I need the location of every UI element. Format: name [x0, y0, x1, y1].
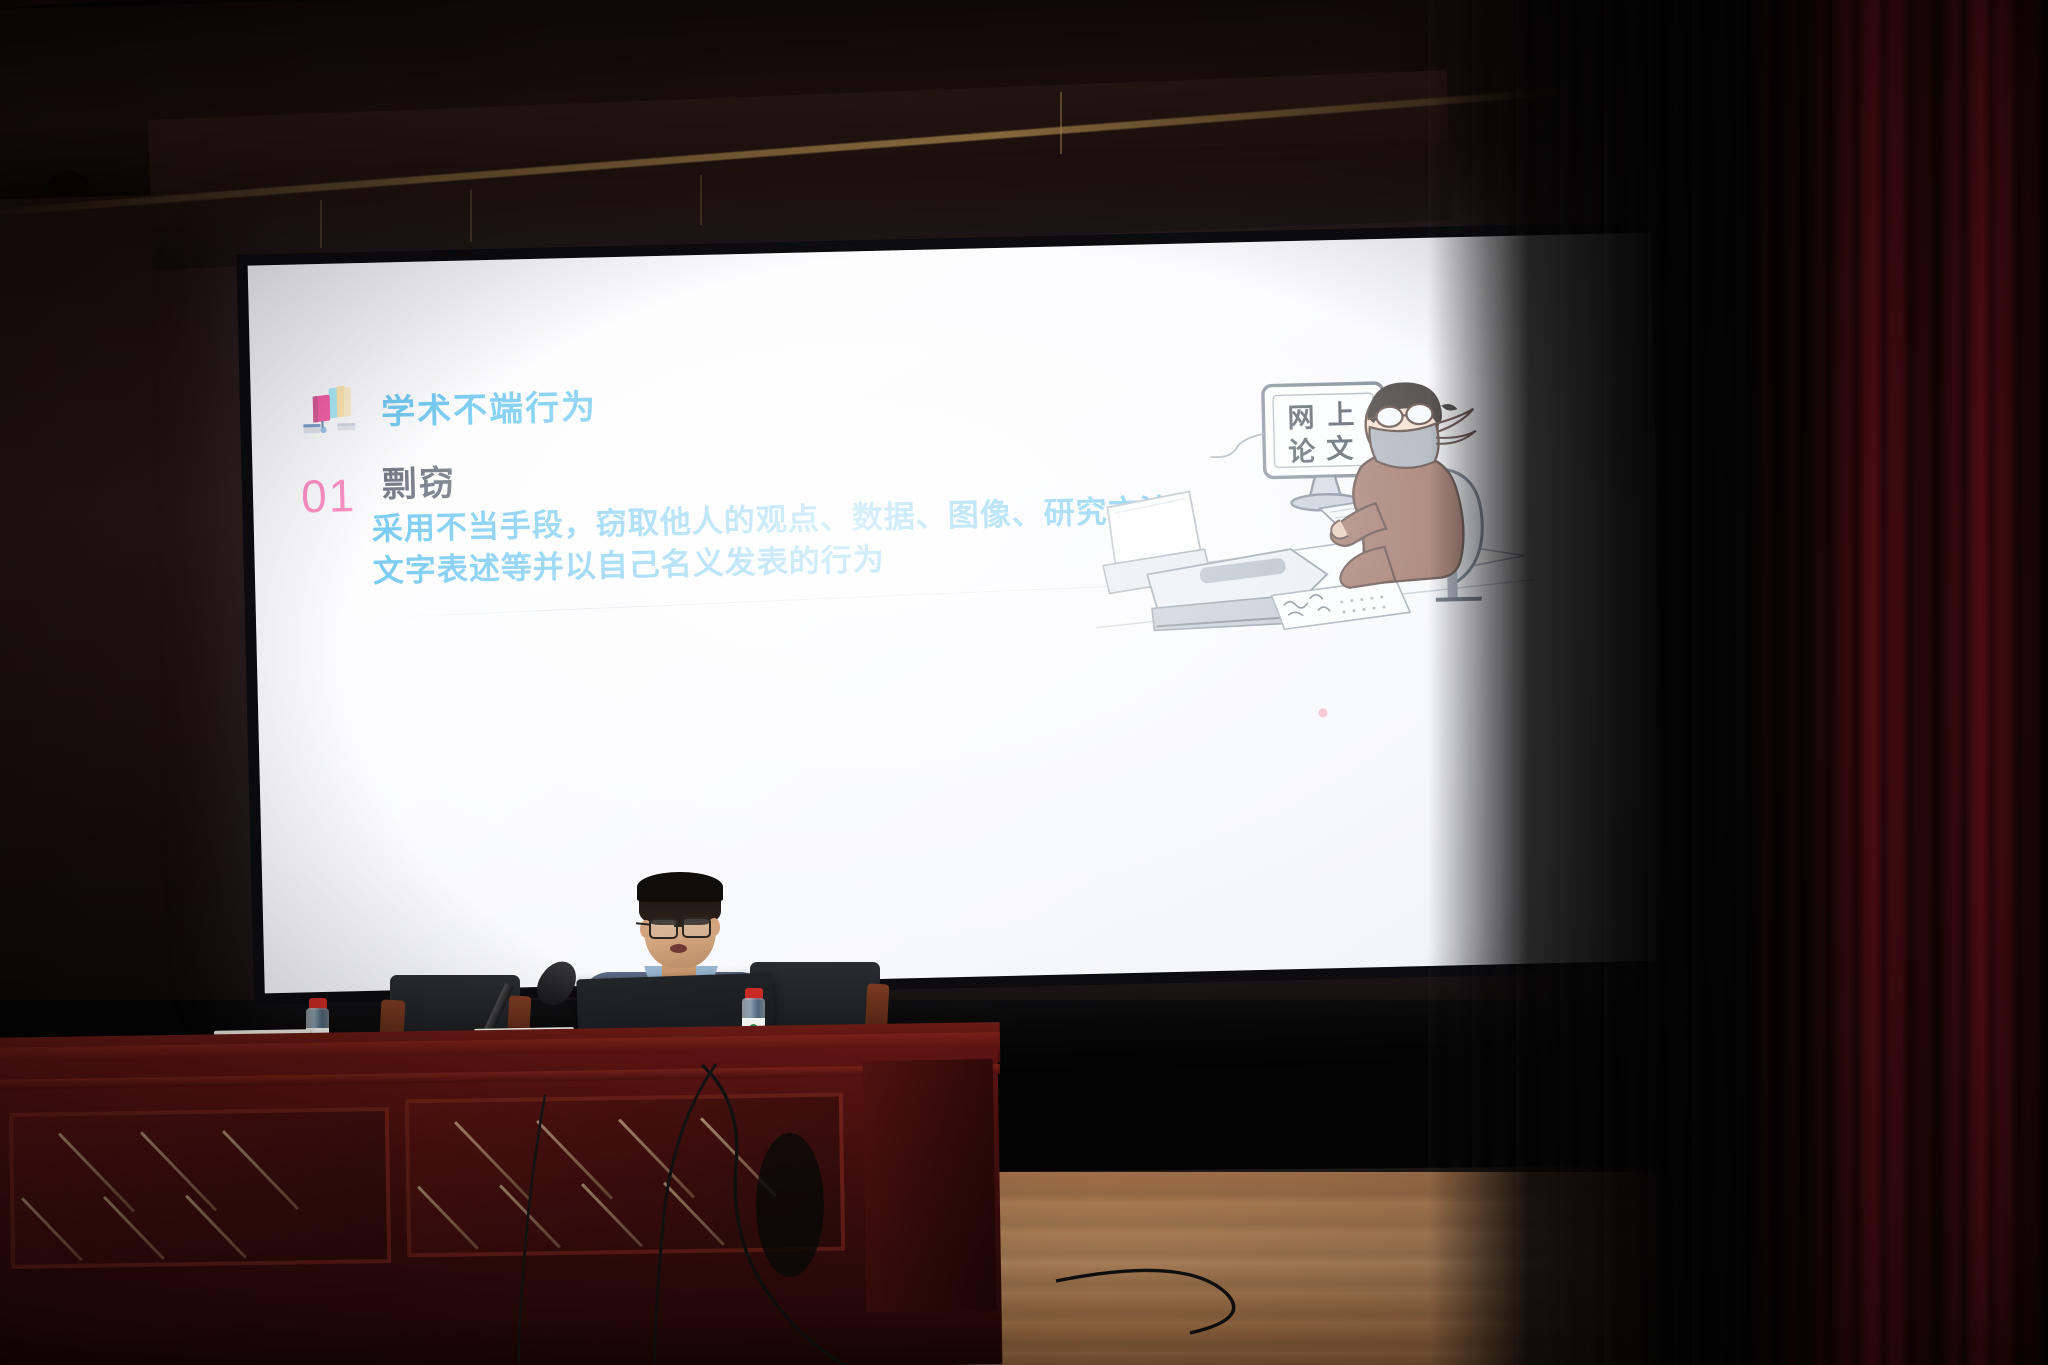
auditorium-scene: 学术不端行为 01 剽窃 采用不当手段，窃取他人的观点、数据、图像、研究方法、 …	[0, 0, 2048, 1365]
item-heading: 剽窃	[382, 466, 457, 506]
red-curtain-folds	[1748, 0, 2048, 1365]
slide-title: 学术不端行为	[380, 379, 597, 433]
panel-inlay	[140, 1131, 217, 1211]
panel-inlay	[581, 1183, 643, 1247]
panel-inlay	[58, 1133, 135, 1213]
slide-header: 学术不端行为	[298, 375, 597, 438]
panel-inlay	[700, 1117, 777, 1197]
panel-inlay	[454, 1121, 531, 1201]
hanging-cord	[320, 200, 322, 248]
black-curtain-folds	[1428, 0, 1798, 1365]
panel-inlay	[663, 1182, 725, 1246]
presenter-hairline	[637, 872, 723, 902]
panel-inlay	[536, 1120, 613, 1200]
panel-inlay	[185, 1195, 247, 1259]
svg-text:上: 上	[1327, 400, 1355, 432]
item-number: 01	[300, 468, 356, 519]
svg-text:论: 论	[1288, 437, 1317, 469]
item-body-line-2: 文字表述等并以自己名义发表的行为	[372, 541, 885, 592]
panel-inlay	[222, 1130, 299, 1210]
svg-text:网: 网	[1287, 403, 1315, 435]
panel-inlay	[21, 1197, 83, 1261]
presenter-glasses-left-lens	[649, 918, 678, 939]
books-icon	[298, 381, 361, 438]
hanging-cord	[700, 175, 702, 225]
panel-inlay	[103, 1196, 165, 1260]
panel-inlay	[618, 1119, 695, 1199]
item-body-line-1: 采用不当手段，窃取他人的观点、数据、图像、研究方法、	[371, 491, 1204, 550]
presenter-glasses-bridge	[674, 925, 683, 927]
hanging-cord	[470, 190, 472, 242]
panel-inlay	[417, 1186, 479, 1250]
podium-panel-left	[9, 1107, 391, 1269]
svg-text:文: 文	[1326, 433, 1355, 466]
presenter-glasses-right-lens	[682, 917, 711, 938]
podium-panel-right	[405, 1093, 845, 1258]
panel-inlay	[499, 1184, 561, 1248]
presenter-mouth	[670, 944, 687, 953]
slide-accent-dot	[1318, 708, 1327, 717]
hanging-cord	[1060, 92, 1062, 154]
